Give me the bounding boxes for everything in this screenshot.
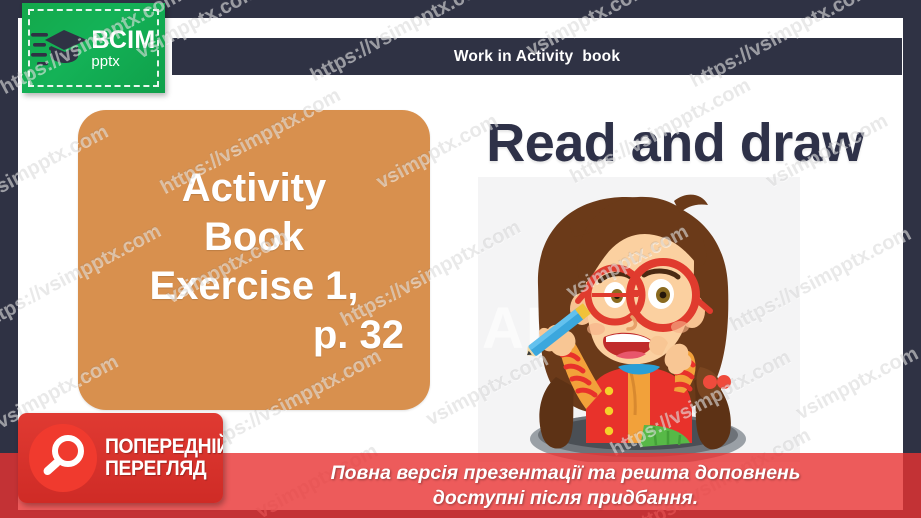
activity-line-3: Exercise 1, — [104, 262, 404, 311]
preview-badge-label: ПОПЕРЕДНІЙ ПЕРЕГЛЯД — [105, 436, 223, 481]
slide-preview-stage: Work in Activity book ВСІМ pptx Activity… — [0, 0, 921, 518]
magnifier-icon — [38, 433, 88, 483]
slide-header-bar: Work in Activity book — [172, 38, 902, 75]
activity-line-2: Book — [104, 213, 404, 262]
preview-badge[interactable]: ПОПЕРЕДНІЙ ПЕРЕГЛЯД — [18, 413, 223, 503]
graduation-cap-icon — [31, 24, 87, 72]
page-title: Read and draw — [465, 112, 885, 174]
brand-logo[interactable]: ВСІМ pptx — [22, 3, 165, 93]
activity-line-1: Activity — [104, 164, 404, 213]
logo-brand-bottom: pptx — [91, 54, 155, 69]
magnifier-icon-circle — [29, 424, 97, 492]
activity-book-card: Activity Book Exercise 1, p. 32 — [78, 110, 430, 410]
slide-header-title: Work in Activity book — [454, 48, 620, 66]
logo-wordmark: ВСІМ pptx — [91, 28, 155, 69]
logo-brand-top: ВСІМ — [91, 28, 155, 53]
girl-illustration-art — [478, 177, 800, 462]
girl-illustration: ABC — [478, 177, 800, 462]
activity-line-4: p. 32 — [104, 311, 404, 360]
